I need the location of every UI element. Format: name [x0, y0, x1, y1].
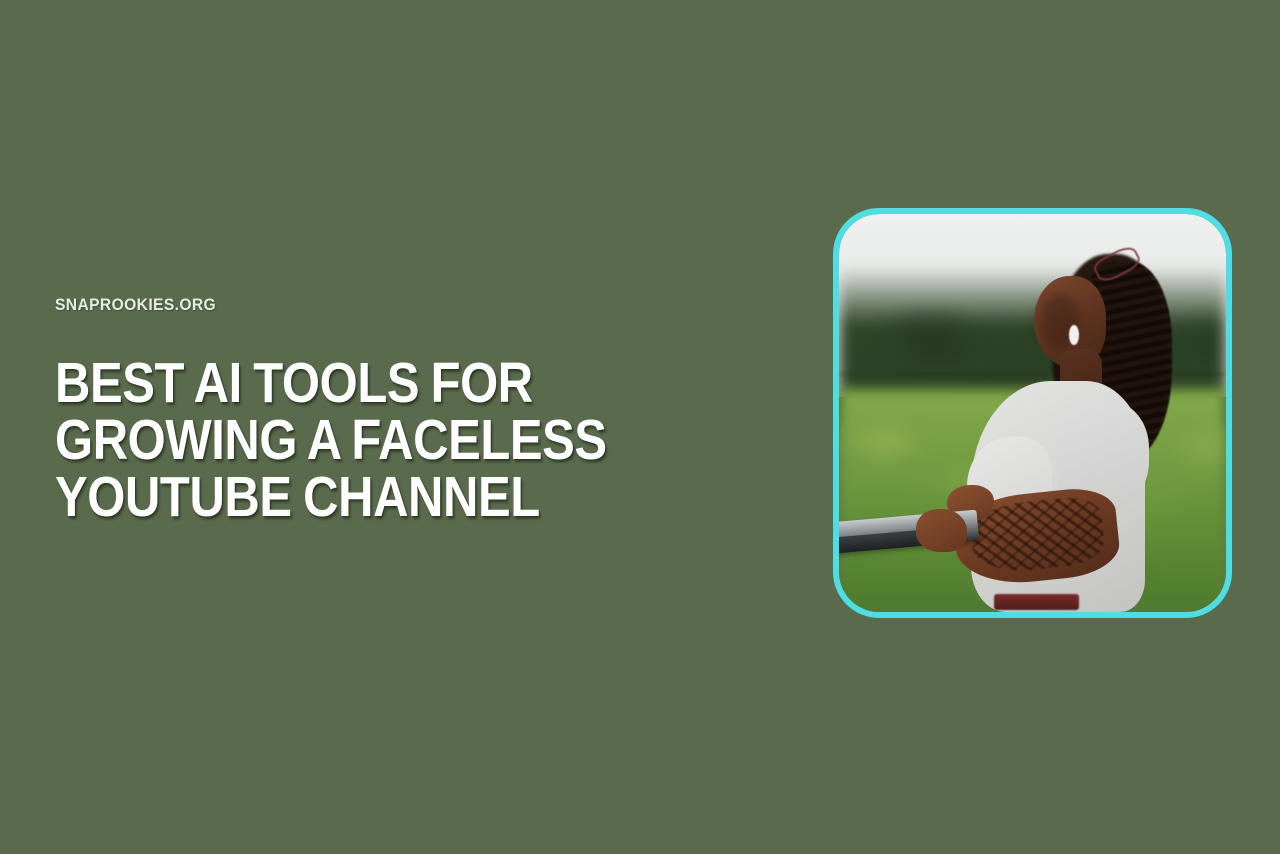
hero-banner: SNAPROOKIES.ORG BEST AI TOOLS FOR GROWIN… [0, 0, 1280, 854]
article-thumbnail[interactable] [833, 208, 1232, 618]
text-column: SNAPROOKIES.ORG BEST AI TOOLS FOR GROWIN… [55, 296, 815, 526]
thumbnail-photo [839, 214, 1226, 612]
page-title: BEST AI TOOLS FOR GROWING A FACELESS YOU… [55, 355, 709, 526]
belt [994, 594, 1079, 610]
person-figure [839, 214, 1226, 612]
supporting-hand [916, 509, 966, 553]
site-label: SNAPROOKIES.ORG [55, 296, 754, 315]
